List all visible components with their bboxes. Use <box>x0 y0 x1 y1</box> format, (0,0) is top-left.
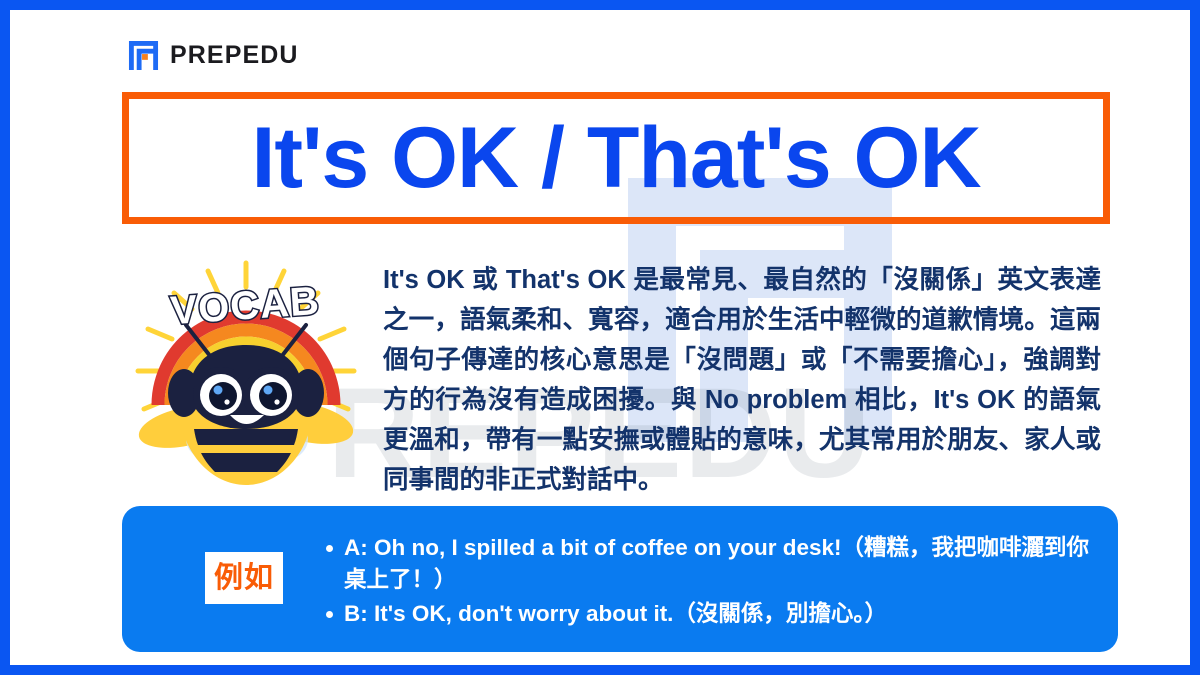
vocab-card: PREPEDU PREPEDU It's OK / That's OK <box>0 0 1200 675</box>
title-box: It's OK / That's OK <box>122 92 1110 224</box>
brand-logo: PREPEDU <box>128 40 299 71</box>
examples-list: A: Oh no, I spilled a bit of coffee on y… <box>322 532 1096 632</box>
list-item: B: It's OK, don't worry about it.（沒關係，別擔… <box>344 598 1096 630</box>
page-title: It's OK / That's OK <box>251 115 980 201</box>
examples-badge-label: 例如 <box>214 564 274 593</box>
list-item: A: Oh no, I spilled a bit of coffee on y… <box>344 532 1096 596</box>
examples-panel: 例如 A: Oh no, I spilled a bit of coffee o… <box>122 506 1118 652</box>
vocab-bee-mascot: VOCAB <box>122 253 370 501</box>
brand-name: PREPEDU <box>170 43 299 68</box>
svg-text:VOCAB: VOCAB <box>169 279 321 333</box>
prepedu-logo-mark-icon <box>128 40 159 71</box>
description-paragraph: It's OK 或 That's OK 是最常見、最自然的「沒關係」英文表達之一… <box>383 260 1101 500</box>
vocab-bee-rainbow-icon: VOCAB <box>122 253 370 501</box>
examples-badge: 例如 <box>205 552 283 604</box>
